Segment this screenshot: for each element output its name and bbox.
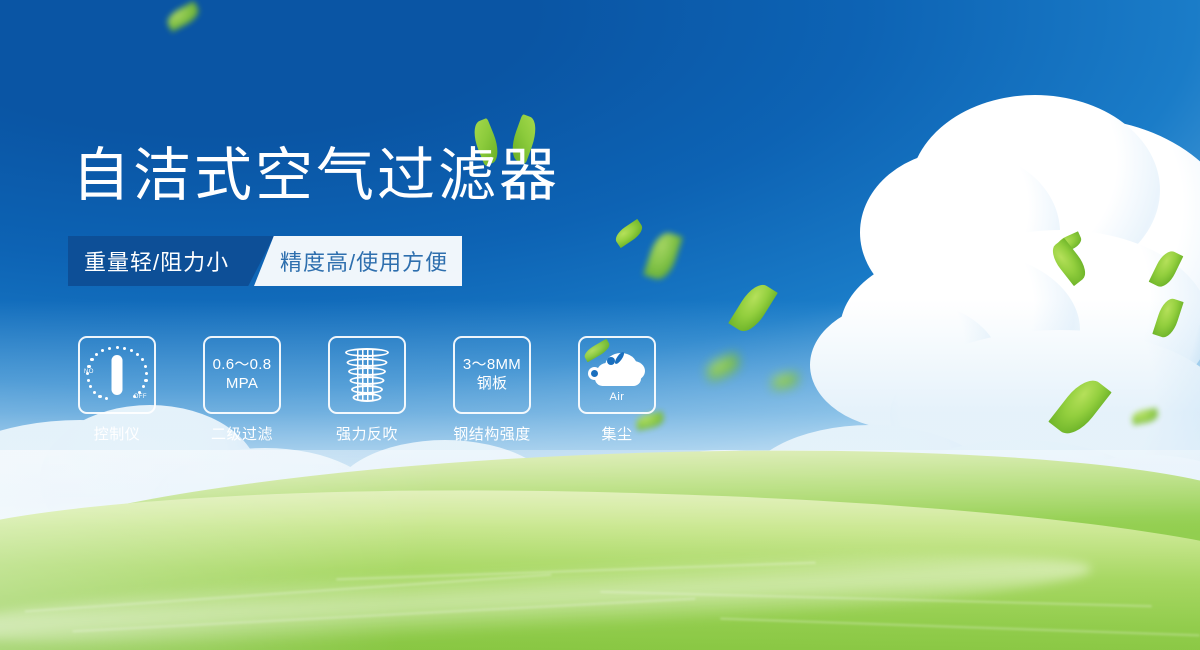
steel-thickness: 3～8MM <box>463 356 521 375</box>
feature-label: 强力反吹 <box>336 423 398 444</box>
air-label: Air <box>587 391 647 403</box>
subtitle-right-segment: 精度高/使用方便 <box>254 236 462 286</box>
pressure-unit: MPA <box>213 375 272 394</box>
dial-on-label: NO <box>84 369 94 375</box>
feature-item-pressure[interactable]: 0.6～0.8 MPA 二级过滤 <box>203 336 281 444</box>
air-cloud-icon: Air <box>587 347 647 403</box>
feature-item-blowback[interactable]: 强力反吹 <box>328 336 406 444</box>
grass-highlight <box>0 450 1200 650</box>
page-title: 自洁式空气过滤器 <box>72 145 560 206</box>
hero-banner: 自洁式空气过滤器 重量轻/阻力小 精度高/使用方便 <box>0 0 1200 650</box>
feature-icon-box: 0.6～0.8 MPA <box>203 336 281 414</box>
steel-plate-text-icon: 3～8MM 钢板 <box>463 356 521 394</box>
feature-item-control[interactable]: NO OFF 控制仪 <box>78 336 156 444</box>
pressure-text-icon: 0.6～0.8 MPA <box>213 356 272 394</box>
filter-cartridge-icon <box>341 346 393 404</box>
feature-item-steel[interactable]: 3～8MM 钢板 钢结构强度 <box>453 336 531 444</box>
feature-list: NO OFF 控制仪 0.6～0.8 MPA 二级过滤 <box>78 336 656 444</box>
grass-field <box>0 420 1200 650</box>
steel-material: 钢板 <box>463 375 521 394</box>
feature-label: 钢结构强度 <box>453 423 531 444</box>
subtitle-right-text: 精度高/使用方便 <box>254 245 448 277</box>
feature-label: 二级过滤 <box>211 423 273 444</box>
subtitle-bar: 重量轻/阻力小 精度高/使用方便 <box>68 236 462 286</box>
feature-label: 集尘 <box>601 423 632 444</box>
feature-icon-box <box>328 336 406 414</box>
subtitle-left-text: 重量轻/阻力小 <box>68 245 229 277</box>
feature-label: 控制仪 <box>94 423 141 444</box>
rotary-switch-icon: NO OFF <box>85 343 149 407</box>
dial-pointer <box>112 355 123 395</box>
subtitle-left-segment: 重量轻/阻力小 <box>68 236 274 286</box>
feature-icon-box: Air <box>578 336 656 414</box>
feature-icon-box: NO OFF <box>78 336 156 414</box>
pressure-value: 0.6～0.8 <box>213 356 272 375</box>
dial-off-label: OFF <box>134 394 147 400</box>
feature-item-dust[interactable]: Air 集尘 <box>578 336 656 444</box>
feature-icon-box: 3～8MM 钢板 <box>453 336 531 414</box>
